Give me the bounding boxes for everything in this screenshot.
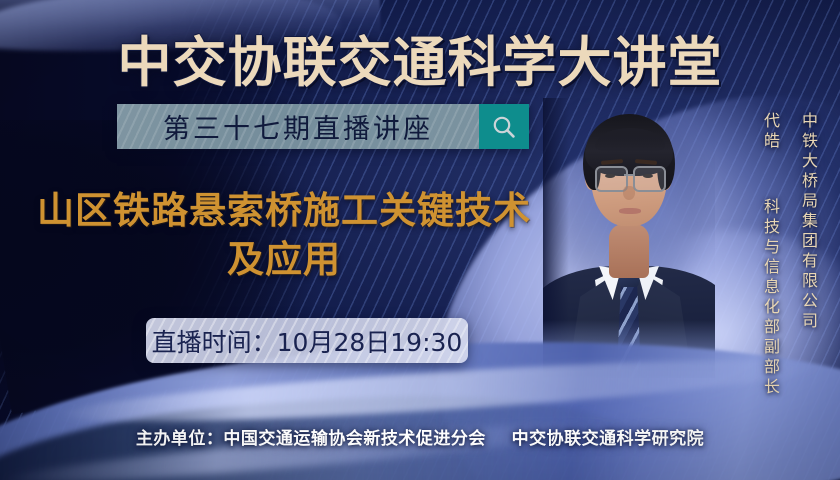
search-icon <box>490 113 518 141</box>
page-title: 中交协联交通科学大讲堂 <box>0 18 840 97</box>
lecture-title-line2: 及应用 <box>24 235 544 284</box>
photo-edge-fade-bottom <box>543 320 715 378</box>
photo-eyeglass-bridge <box>624 174 633 176</box>
organizer-line: 主办单位：中国交通运输协会新技术促进分会 中交协联交通科学研究院 <box>0 424 840 449</box>
photo-nose <box>623 186 635 200</box>
lecture-title-line1: 山区铁路悬索桥施工关键技术 <box>24 186 544 235</box>
speaker-name-and-role: 代皓 科技与信息化部副部长 <box>758 112 782 398</box>
photo-eyeglass-right <box>633 166 666 192</box>
lecture-title: 山区铁路悬索桥施工关键技术 及应用 <box>24 186 544 284</box>
photo-mouth <box>619 208 641 214</box>
broadcast-time-badge: 直播时间：10月28日19:30 <box>146 318 468 363</box>
speaker-photo <box>543 98 715 378</box>
webinar-poster: 中交协联交通科学大讲堂 第三十七期直播讲座 山区铁路悬索桥施工关键技术 及应用 … <box>0 0 840 480</box>
speaker-organization: 中铁大桥局集团有限公司 <box>796 112 820 332</box>
broadcast-time-text: 直播时间：10月28日19:30 <box>152 323 463 359</box>
photo-neck <box>609 224 649 278</box>
search-button[interactable] <box>479 104 529 149</box>
episode-label: 第三十七期直播讲座 <box>163 107 433 146</box>
episode-search-bar[interactable]: 第三十七期直播讲座 <box>117 104 529 149</box>
episode-field[interactable]: 第三十七期直播讲座 <box>117 104 479 149</box>
